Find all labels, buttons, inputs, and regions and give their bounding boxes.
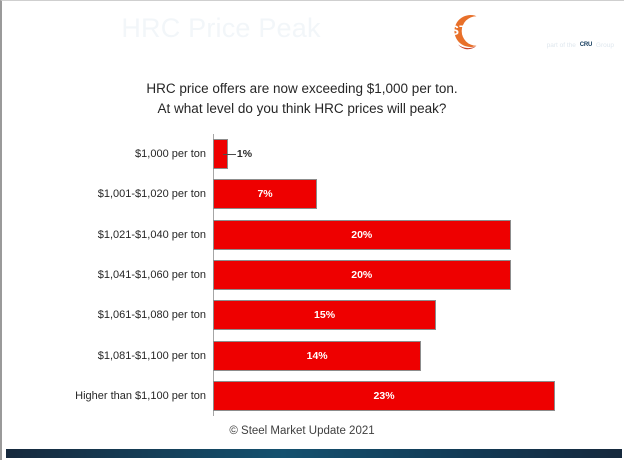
chart-question: HRC price offers are now exceeding $1,00… bbox=[42, 79, 562, 119]
cru-badge: CRU bbox=[578, 41, 594, 50]
footer-accent-bar bbox=[6, 449, 622, 458]
bar-value-label: 20% bbox=[213, 229, 511, 241]
bar-track: 20% bbox=[213, 260, 570, 290]
category-label: Higher than $1,100 per ton bbox=[60, 390, 213, 402]
bar-row: $1,021-$1,040 per ton20% bbox=[60, 220, 570, 250]
logo-tagline-pre: part of the bbox=[547, 42, 576, 49]
logo-wordmark: STEEL MARKET UPDATE bbox=[450, 24, 614, 38]
question-line-2: At what level do you think HRC prices wi… bbox=[42, 99, 562, 119]
bar-value-label: 14% bbox=[213, 350, 421, 362]
header-banner: HRC Price Peak STEEL MARKET UPDATE part … bbox=[6, 5, 622, 63]
bar-row: $1,081-$1,100 per ton14% bbox=[60, 341, 570, 371]
bar-row: $1,061-$1,080 per ton15% bbox=[60, 300, 570, 330]
category-label: $1,000 per ton bbox=[60, 148, 213, 160]
bar-row: $1,001-$1,020 per ton7% bbox=[60, 179, 570, 209]
bar-track: 20% bbox=[213, 220, 570, 250]
steel-market-update-logo: STEEL MARKET UPDATE part of the CRU Grou… bbox=[438, 10, 614, 60]
label-leader-line bbox=[223, 154, 236, 155]
bar-track: 15% bbox=[213, 300, 570, 330]
bar-row: $1,041-$1,060 per ton20% bbox=[60, 260, 570, 290]
bar-value-label: 7% bbox=[213, 188, 317, 200]
logo-tagline: part of the CRU Group bbox=[478, 41, 614, 50]
logo-word-bold: STEEL MARKET bbox=[450, 23, 558, 38]
logo-word-light: UPDATE bbox=[562, 23, 618, 38]
question-line-1: HRC price offers are now exceeding $1,00… bbox=[42, 79, 562, 99]
bar-chart-plot-area: $1,000 per ton1%$1,001-$1,020 per ton7%$… bbox=[60, 134, 570, 416]
bar-track: 1% bbox=[213, 139, 570, 169]
bar-row: $1,000 per ton1% bbox=[60, 139, 570, 169]
slide-canvas: HRC Price Peak STEEL MARKET UPDATE part … bbox=[0, 0, 624, 460]
bar-value-label: 1% bbox=[237, 148, 252, 160]
bar-value-label: 15% bbox=[213, 309, 436, 321]
bar-track: 14% bbox=[213, 341, 570, 371]
category-label: $1,061-$1,080 per ton bbox=[60, 309, 213, 321]
logo-tagline-post: Group bbox=[596, 42, 614, 49]
page-title: HRC Price Peak bbox=[6, 13, 436, 44]
bar-track: 7% bbox=[213, 179, 570, 209]
category-label: $1,081-$1,100 per ton bbox=[60, 350, 213, 362]
category-label: $1,001-$1,020 per ton bbox=[60, 188, 213, 200]
category-label: $1,021-$1,040 per ton bbox=[60, 229, 213, 241]
bar-value-label: 23% bbox=[213, 390, 555, 402]
copyright-credit: © Steel Market Update 2021 bbox=[42, 425, 562, 437]
category-label: $1,041-$1,060 per ton bbox=[60, 269, 213, 281]
bar-track: 23% bbox=[213, 381, 570, 411]
bar-value-label: 20% bbox=[213, 269, 511, 281]
bar-row: Higher than $1,100 per ton23% bbox=[60, 381, 570, 411]
